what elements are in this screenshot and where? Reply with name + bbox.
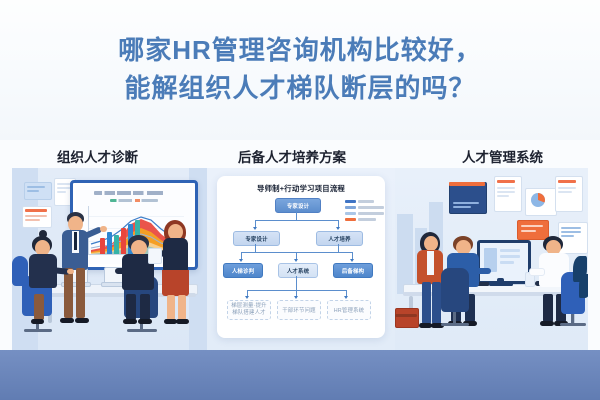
skyline-building: [397, 214, 413, 294]
flowchart-card: 导师制+行动学习项目流程: [217, 176, 385, 338]
presenter-tie: [74, 232, 77, 250]
flow-arrow-l2b: [336, 227, 340, 230]
standing-right-leg-2: [178, 295, 186, 320]
flow-connector-l2b-out: [338, 244, 339, 252]
page-title-line-2: 能解组织人才梯队断层的吗？: [124, 70, 475, 108]
wall-card-doc-3-line: [561, 227, 581, 229]
floor-band: [0, 350, 600, 400]
screen-chart-bar-3: [114, 235, 119, 254]
legend-label-2: [358, 206, 384, 209]
floor-sheen: [0, 350, 600, 400]
wall-card-doc-2-line-2: [558, 191, 572, 193]
illustration-flowchart: 导师制+行动学习项目流程: [207, 168, 395, 350]
legend-swatch-4: [345, 218, 356, 221]
office-chair-left: [441, 268, 469, 312]
legend-swatch-1: [345, 200, 356, 203]
screen-chart-bar: [100, 238, 105, 254]
wall-card-chart: [449, 182, 487, 214]
wall-card-doc-bar: [497, 180, 515, 183]
chair-right-front-base: [127, 329, 157, 332]
wall-card-doc-line: [497, 187, 515, 189]
chair-back-left: [12, 256, 28, 286]
wall-card-doc-2-bar: [558, 180, 576, 183]
section-caption-system: 人才管理系统: [462, 146, 543, 166]
wall-card-chart-bar: [449, 182, 485, 186]
flow-arrow-l3a: [239, 259, 243, 262]
wall-card-doc-3-line-2: [561, 231, 581, 233]
screen-chart-bar-4: [121, 228, 126, 254]
wall-card-pie-icon: [529, 191, 547, 209]
office-seated-right-arm: [529, 268, 545, 276]
office-seated-left-arm: [475, 268, 491, 274]
wall-card-chart-line: [453, 202, 479, 204]
office-standing-leg-2: [432, 282, 441, 324]
office-plant-leaf-2: [579, 274, 588, 298]
wall-note-blue-line: [27, 186, 45, 188]
flow-connector-l3-mid-down: [296, 276, 297, 290]
seated-right-leg-2: [140, 294, 150, 320]
office-chair-right-base: [560, 323, 586, 326]
section-caption-diagnosis: 组织人才诊断: [57, 146, 138, 166]
page-title-line-1: 哪家HR管理咨询机构比较好，: [118, 32, 482, 70]
flowchart-legend-item-2: [345, 206, 384, 209]
wall-note-white-line-3: [57, 191, 66, 193]
flow-node-l3-3[interactable]: 后备梯构: [333, 263, 373, 278]
presenter-hand: [100, 226, 107, 232]
wall-note-orange-line: [25, 215, 47, 217]
flow-connector-l1-h: [255, 220, 339, 221]
flow-arrow-l4c: [344, 296, 348, 299]
standing-right-skirt: [162, 270, 189, 296]
legend-swatch-2: [345, 206, 356, 209]
flow-node-l4-2[interactable]: 干部环节问题: [277, 300, 321, 320]
wall-card-doc-line-2: [497, 191, 515, 193]
desktop-monitor: [477, 240, 531, 284]
office-standing-inner: [427, 251, 434, 275]
seated-right-shoe-2: [138, 319, 152, 324]
screen-chart-legend-placeholder: [110, 199, 158, 202]
wall-card-doc-2-line: [558, 187, 576, 189]
wall-card-orange-line-2: [521, 230, 536, 232]
standing-right-tablet: [148, 248, 162, 264]
monitor-base: [489, 283, 513, 286]
flowchart-legend-item-3: [345, 212, 384, 215]
monitor-ui-row-2: [500, 255, 520, 258]
chair-left-front-base: [24, 329, 52, 332]
illustration-row: 导师制+行动学习项目流程: [0, 168, 600, 400]
wall-note-white-line-2: [57, 187, 71, 189]
wall-note-white-line: [57, 183, 71, 185]
flow-node-l3-2[interactable]: 人才系统: [278, 263, 318, 278]
wall-card-doc-line-3: [497, 195, 509, 197]
presenter-leg: [64, 268, 73, 318]
wall-card-orange-line: [521, 225, 543, 227]
office-seated-right-shoe: [540, 321, 554, 326]
wall-note-orange-line-2: [25, 219, 40, 221]
flow-arrow-l3c: [350, 259, 354, 262]
flow-connector-l2a-out: [255, 244, 256, 252]
poster-canvas: 哪家HR管理咨询机构比较好， 能解组织人才梯队断层的吗？ 组织人才诊断 后备人才…: [0, 0, 600, 400]
illustration-office: [395, 168, 588, 350]
standing-right-shoe-2: [176, 319, 189, 324]
illustration-meeting-room: [12, 168, 207, 350]
flow-arrow-l4a: [245, 296, 249, 299]
flow-node-l3-1[interactable]: 人梯诊判: [223, 263, 263, 278]
seated-left-hand: [67, 269, 74, 274]
presenter-shoe: [60, 318, 74, 323]
screen-chart-bar-2: [107, 232, 112, 254]
section-caption-development: 后备人才培养方案: [238, 146, 346, 166]
office-standing-leg: [422, 282, 431, 324]
seated-right-shoe: [123, 319, 137, 324]
office-standing-head: [424, 236, 438, 251]
presenter-shoe-2: [75, 318, 89, 323]
legend-swatch-3: [345, 212, 356, 215]
wall-card-doc-3-line-3: [561, 235, 574, 237]
office-bag: [395, 308, 419, 328]
wall-note-orange-bar: [25, 209, 47, 212]
seated-right-leg: [126, 294, 136, 320]
header-banner: 哪家HR管理咨询机构比较好， 能解组织人才梯队断层的吗？: [0, 0, 600, 140]
monitor-ui-row-3: [500, 261, 514, 264]
flow-node-l4-1-label: 梯层测量·提升 梯队搭建人才: [231, 303, 267, 317]
section-caption-row: 组织人才诊断 后备人才培养方案 人才管理系统: [0, 143, 600, 167]
flowchart-legend-item-4: [345, 218, 376, 221]
office-seated-right-leg: [543, 294, 553, 322]
office-bag-flap: [395, 314, 417, 317]
standing-right-leg: [167, 295, 175, 320]
flow-node-l4-3[interactable]: HR管理系统: [327, 300, 371, 320]
flow-node-l4-1[interactable]: 梯层测量·提升 梯队搭建人才: [227, 300, 271, 320]
flow-node-l2-2[interactable]: 人才培养: [316, 231, 363, 246]
legend-label-1: [358, 200, 374, 203]
seated-right-arm: [115, 268, 129, 274]
legend-label-3: [358, 212, 384, 215]
screen-chart-title-placeholder: [94, 191, 174, 195]
flowchart-title: 导师制+行动学习项目流程: [217, 183, 385, 194]
legend-label-4: [358, 218, 376, 221]
office-chair-left-base: [441, 323, 469, 326]
standing-right-torso: [163, 238, 188, 272]
flow-node-l1-1[interactable]: 专家设计: [275, 198, 321, 213]
flow-node-l2-1[interactable]: 专家设计: [233, 231, 280, 246]
flow-arrow-l4b: [294, 296, 298, 299]
flow-arrow-l2a: [253, 227, 257, 230]
flow-arrow-l3b: [294, 259, 298, 262]
presenter-leg-2: [76, 268, 85, 318]
monitor-ui-row: [500, 249, 520, 252]
seated-left-shoe: [31, 319, 44, 324]
seated-left-leg: [34, 294, 44, 320]
wall-card-chart-line-2: [453, 206, 471, 208]
flow-connector-l1-down: [296, 211, 297, 220]
wall-note-blue-line-2: [27, 190, 39, 192]
flowchart-legend-item-1: [345, 200, 374, 203]
